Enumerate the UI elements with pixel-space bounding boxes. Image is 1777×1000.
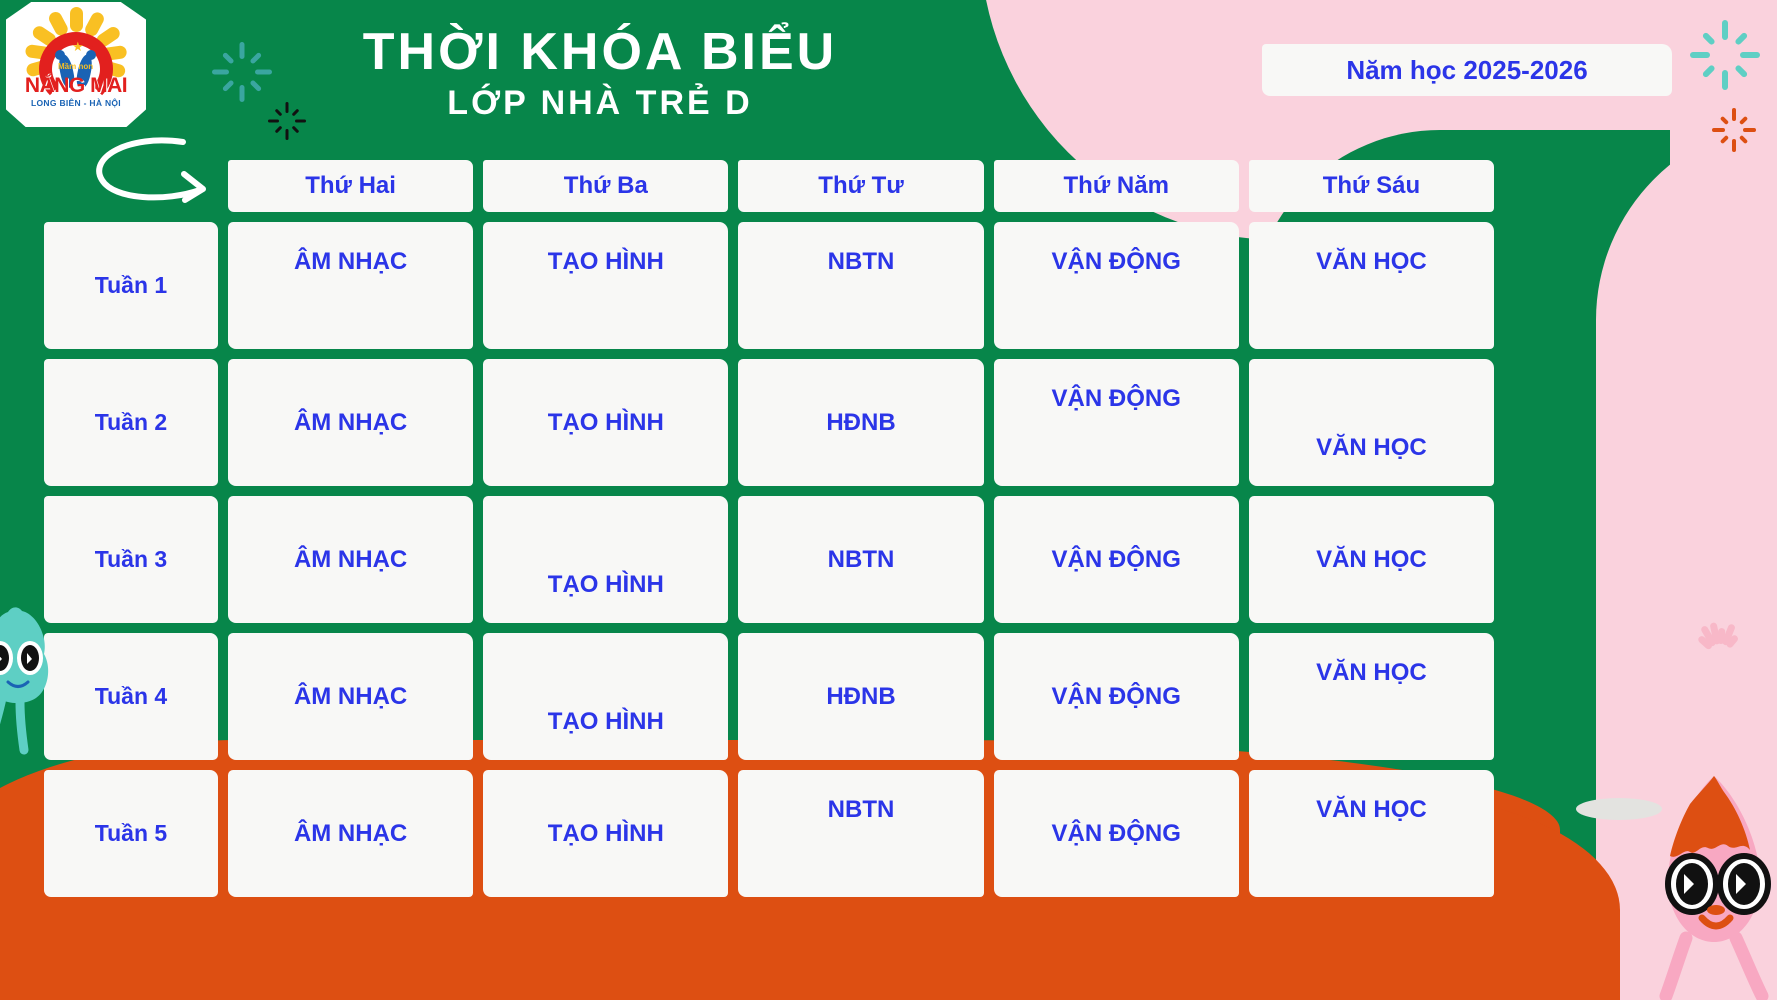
cell-w2-wed[interactable]: HĐNB	[738, 359, 983, 486]
cell-text: TẠO HÌNH	[493, 409, 718, 437]
cell-w4-wed[interactable]: HĐNB	[738, 633, 983, 760]
cell-text: VẬN ĐỘNG	[1004, 683, 1229, 711]
cell-w3-fri[interactable]: VĂN HỌC	[1249, 496, 1494, 623]
cell-text: ÂM NHẠC	[238, 546, 463, 574]
week-label-5[interactable]: Tuần 5	[44, 770, 218, 897]
cell-w4-thu[interactable]: VẬN ĐỘNG	[994, 633, 1239, 760]
cell-w1-mon[interactable]: ÂM NHẠC	[228, 222, 473, 349]
cell-w5-wed[interactable]: NBTN	[738, 770, 983, 897]
timetable: Thứ Hai Thứ Ba Thứ Tư Thứ Năm Thứ Sáu Tu…	[44, 160, 1494, 897]
cell-w3-thu[interactable]: VẬN ĐỘNG	[994, 496, 1239, 623]
cell-w2-thu[interactable]: VẬN ĐỘNG	[994, 359, 1239, 486]
school-logo: ★ Mầm non NẮNG MAI LONG BIÊN - HÀ NỘI	[6, 2, 146, 127]
logo-location: LONG BIÊN - HÀ NỘI	[12, 98, 140, 108]
week-label-3[interactable]: Tuần 3	[44, 496, 218, 623]
cell-text: ÂM NHẠC	[238, 683, 463, 711]
cell-text: VĂN HỌC	[1259, 659, 1484, 687]
star-icon: ★	[72, 40, 84, 53]
column-header-fri[interactable]: Thứ Sáu	[1249, 160, 1494, 212]
cell-w5-mon[interactable]: ÂM NHẠC	[228, 770, 473, 897]
column-header-wed[interactable]: Thứ Tư	[738, 160, 983, 212]
column-header-tue[interactable]: Thứ Ba	[483, 160, 728, 212]
cell-w1-fri[interactable]: VĂN HỌC	[1249, 222, 1494, 349]
poster-canvas: ★ Mầm non NẮNG MAI LONG BIÊN - HÀ NỘI	[0, 0, 1777, 1000]
logo-name: NẮNG MAI	[12, 74, 140, 98]
cell-text: TẠO HÌNH	[493, 708, 718, 736]
cell-w3-mon[interactable]: ÂM NHẠC	[228, 496, 473, 623]
cell-text: NBTN	[748, 546, 973, 574]
cell-w5-thu[interactable]: VẬN ĐỘNG	[994, 770, 1239, 897]
cell-text: VẬN ĐỘNG	[1004, 546, 1229, 574]
cell-w3-wed[interactable]: NBTN	[738, 496, 983, 623]
cell-w4-tue[interactable]: TẠO HÌNH	[483, 633, 728, 760]
table-row: Tuần 2 ÂM NHẠC TẠO HÌNH HĐNB VẬN ĐỘNG VĂ…	[44, 359, 1494, 486]
cell-w1-tue[interactable]: TẠO HÌNH	[483, 222, 728, 349]
logo-subtitle: Mầm non	[58, 62, 93, 71]
cell-w5-fri[interactable]: VĂN HỌC	[1249, 770, 1494, 897]
table-row: Tuần 5 ÂM NHẠC TẠO HÌNH NBTN VẬN ĐỘNG VĂ…	[44, 770, 1494, 897]
sparkle-teal-top-right-icon	[1690, 20, 1760, 90]
table-row: Tuần 1 ÂM NHẠC TẠO HÌNH NBTN VẬN ĐỘNG VĂ…	[44, 222, 1494, 349]
school-year-badge: Năm học 2025-2026	[1262, 44, 1672, 96]
column-header-thu[interactable]: Thứ Năm	[994, 160, 1239, 212]
cell-text: ÂM NHẠC	[238, 820, 463, 848]
cell-text: NBTN	[748, 248, 973, 276]
week-label-1[interactable]: Tuần 1	[44, 222, 218, 349]
table-row: Tuần 3 ÂM NHẠC TẠO HÌNH NBTN VẬN ĐỘNG VĂ…	[44, 496, 1494, 623]
sparkle-black-top-left-icon	[268, 102, 306, 140]
cell-w1-thu[interactable]: VẬN ĐỘNG	[994, 222, 1239, 349]
cell-w2-tue[interactable]: TẠO HÌNH	[483, 359, 728, 486]
cell-text: ÂM NHẠC	[238, 409, 463, 437]
sparkle-teal-top-left-icon	[212, 42, 272, 102]
week-label-2[interactable]: Tuần 2	[44, 359, 218, 486]
cell-text: TẠO HÌNH	[493, 248, 718, 276]
cell-w4-fri[interactable]: VĂN HỌC	[1249, 633, 1494, 760]
cell-text: VĂN HỌC	[1259, 434, 1484, 462]
cell-w4-mon[interactable]: ÂM NHẠC	[228, 633, 473, 760]
table-row: Tuần 4 ÂM NHẠC TẠO HÌNH HĐNB VẬN ĐỘNG VĂ…	[44, 633, 1494, 760]
cell-text: VẬN ĐỘNG	[1004, 820, 1229, 848]
cell-w1-wed[interactable]: NBTN	[738, 222, 983, 349]
cell-w2-fri[interactable]: VĂN HỌC	[1249, 359, 1494, 486]
pink-egg-mascot	[1650, 760, 1777, 1000]
cell-w5-tue[interactable]: TẠO HÌNH	[483, 770, 728, 897]
cell-text: VĂN HỌC	[1259, 248, 1484, 276]
column-header-mon[interactable]: Thứ Hai	[228, 160, 473, 212]
cell-text: TẠO HÌNH	[493, 820, 718, 848]
cell-text: VẬN ĐỘNG	[1004, 248, 1229, 276]
cell-text: HĐNB	[748, 683, 973, 711]
cell-text: VĂN HỌC	[1259, 796, 1484, 824]
cell-text: VẬN ĐỘNG	[1004, 385, 1229, 413]
teal-monster-mascot	[0, 598, 60, 758]
cell-text: ÂM NHẠC	[238, 248, 463, 276]
sparkle-pink-right-icon	[1688, 622, 1752, 686]
page-subtitle: LỚP NHÀ TRẺ D	[340, 84, 860, 123]
page-title: THỜI KHÓA BIỂU	[340, 22, 860, 82]
cell-w3-tue[interactable]: TẠO HÌNH	[483, 496, 728, 623]
timetable-header-row: Thứ Hai Thứ Ba Thứ Tư Thứ Năm Thứ Sáu	[228, 160, 1494, 212]
cell-text: NBTN	[748, 796, 973, 824]
sparkle-orange-top-right-icon	[1712, 108, 1756, 152]
cell-w2-mon[interactable]: ÂM NHẠC	[228, 359, 473, 486]
week-label-4[interactable]: Tuần 4	[44, 633, 218, 760]
cell-text: HĐNB	[748, 409, 973, 437]
cell-text: VĂN HỌC	[1259, 546, 1484, 574]
cell-text: TẠO HÌNH	[493, 571, 718, 599]
